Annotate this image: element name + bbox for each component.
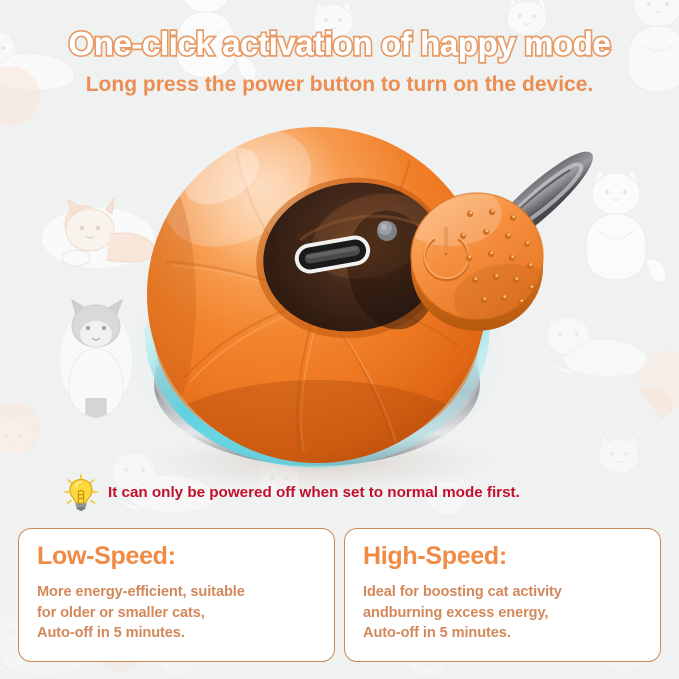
page-subtitle: Long press the power button to turn on t… [0,74,679,95]
card-high-speed: High-Speed: Ideal for boosting cat activ… [344,528,661,662]
warning-text: It can only be powered off when set to n… [108,485,520,500]
card-low-speed-title: Low-Speed: [37,544,316,569]
lightbulb-icon [63,473,99,513]
infographic-page: One-click activation of happy mode One-c… [0,0,679,679]
speed-mode-cards: Low-Speed: More energy-efficient, suitab… [18,528,661,662]
card-low-speed: Low-Speed: More energy-efficient, suitab… [18,528,335,662]
header: One-click activation of happy mode One-c… [0,0,679,95]
card-high-speed-title: High-Speed: [363,544,642,569]
card-low-speed-body: More energy-efficient, suitable for olde… [37,582,316,644]
card-high-speed-body: Ideal for boosting cat activity andburni… [363,582,642,644]
page-title-fill: One-click activation of happy mode [0,27,679,60]
indicator-led [377,221,397,241]
warning-note: It can only be powered off when set to n… [63,473,520,513]
